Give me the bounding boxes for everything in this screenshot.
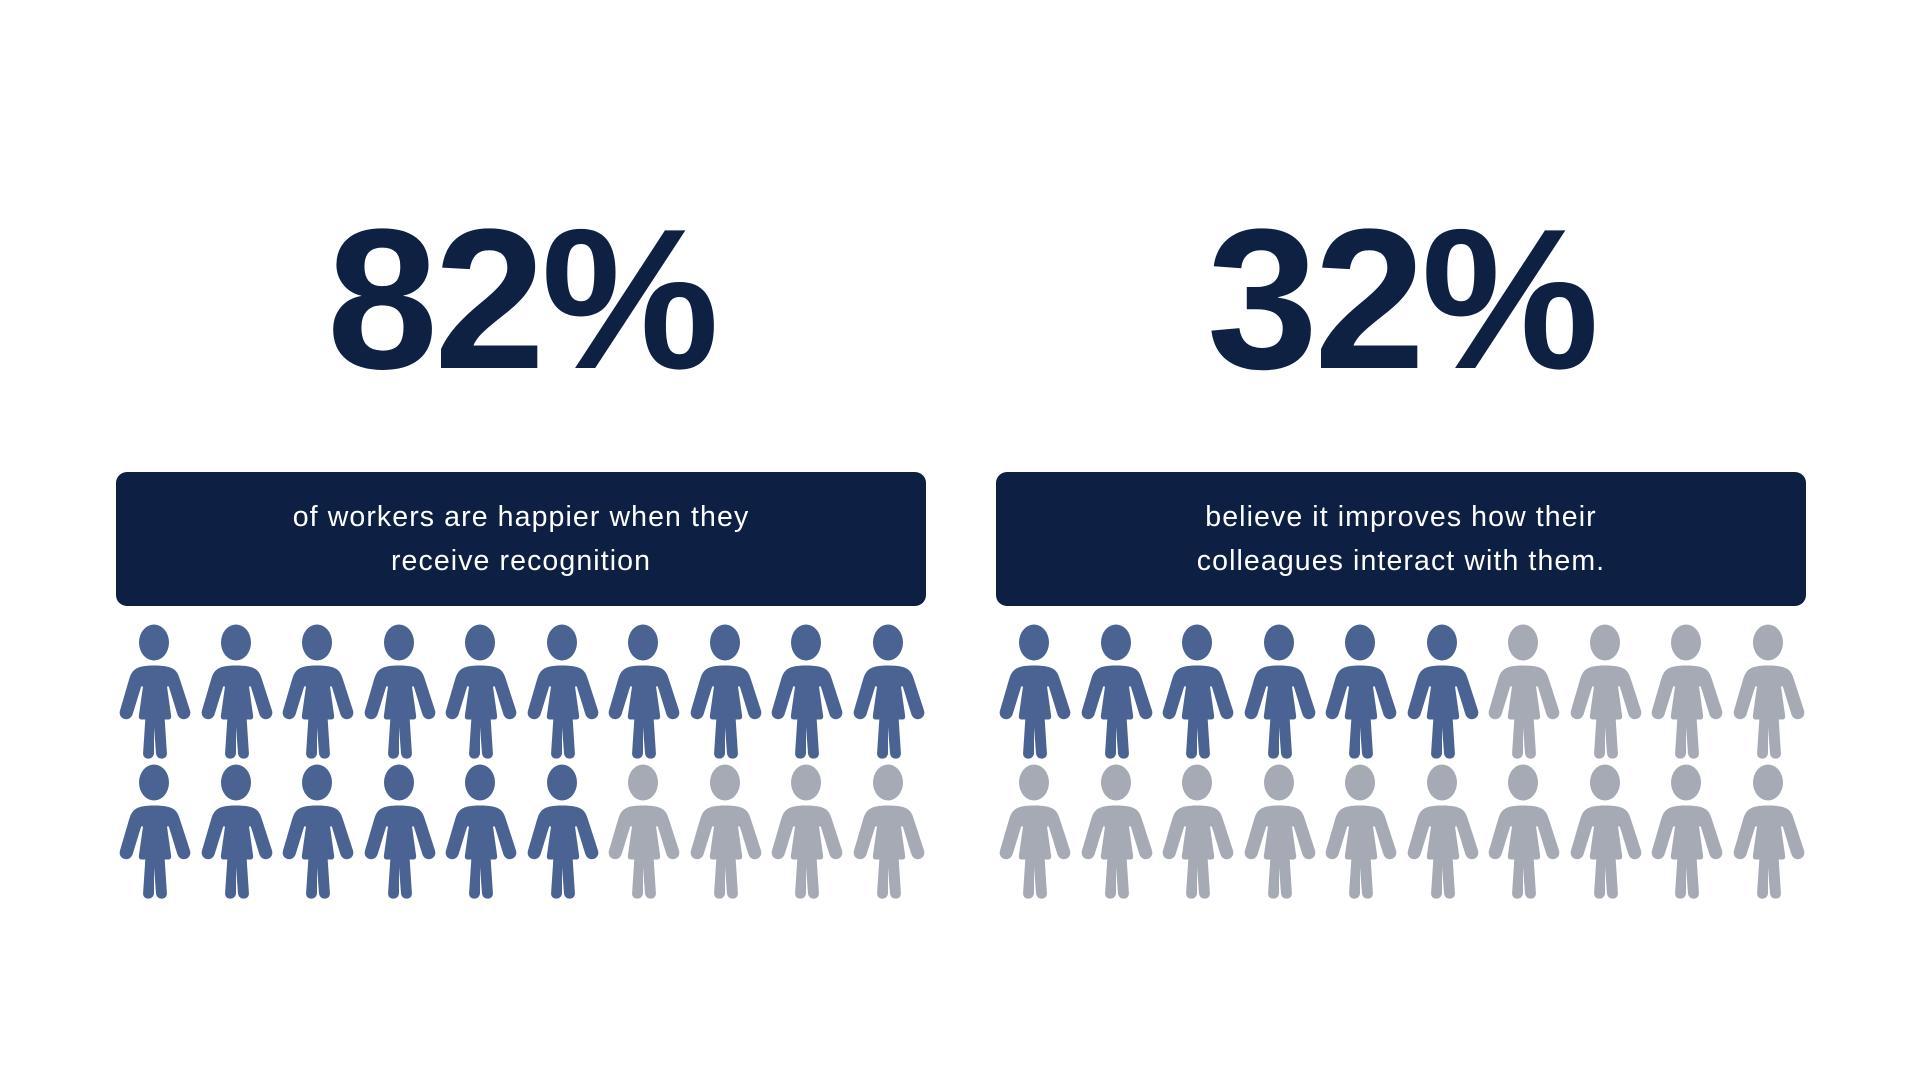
person-icon bbox=[1730, 762, 1806, 902]
stat-panel-workers-happier: 82% of workers are happier when they rec… bbox=[116, 200, 926, 902]
pictogram-row bbox=[116, 622, 926, 762]
person-icon bbox=[361, 762, 437, 902]
stat-panel-colleague-interaction: 32% believe it improves how their collea… bbox=[996, 200, 1806, 902]
person-icon bbox=[1241, 762, 1317, 902]
person-icon bbox=[1322, 622, 1398, 762]
person-icon bbox=[1648, 762, 1724, 902]
person-icon bbox=[198, 762, 274, 902]
person-icon bbox=[1322, 762, 1398, 902]
person-icon bbox=[524, 622, 600, 762]
caption-text-right: believe it improves how their colleagues… bbox=[1197, 495, 1605, 583]
person-icon bbox=[996, 622, 1072, 762]
person-icon bbox=[279, 622, 355, 762]
person-icon bbox=[850, 762, 926, 902]
person-icon bbox=[116, 622, 192, 762]
caption-box-right: believe it improves how their colleagues… bbox=[996, 472, 1806, 606]
pictogram-left bbox=[116, 622, 926, 902]
person-icon bbox=[687, 762, 763, 902]
person-icon bbox=[1730, 622, 1806, 762]
person-icon bbox=[687, 622, 763, 762]
person-icon bbox=[442, 622, 518, 762]
person-icon bbox=[768, 622, 844, 762]
person-icon bbox=[1078, 762, 1154, 902]
person-icon bbox=[1485, 762, 1561, 902]
person-icon bbox=[279, 762, 355, 902]
stat-panels: 82% of workers are happier when they rec… bbox=[0, 0, 1920, 1080]
person-icon bbox=[605, 762, 681, 902]
person-icon bbox=[1567, 622, 1643, 762]
caption-box-left: of workers are happier when they receive… bbox=[116, 472, 926, 606]
caption-text-left: of workers are happier when they receive… bbox=[293, 495, 750, 583]
person-icon bbox=[1485, 622, 1561, 762]
pictogram-right bbox=[996, 622, 1806, 902]
person-icon bbox=[1404, 762, 1480, 902]
person-icon bbox=[1159, 622, 1235, 762]
stat-percentage-left: 82% bbox=[116, 200, 926, 400]
person-icon bbox=[850, 622, 926, 762]
person-icon bbox=[1078, 622, 1154, 762]
person-icon bbox=[116, 762, 192, 902]
person-icon bbox=[198, 622, 274, 762]
person-icon bbox=[1404, 622, 1480, 762]
pictogram-row bbox=[996, 762, 1806, 902]
person-icon bbox=[1241, 622, 1317, 762]
person-icon bbox=[361, 622, 437, 762]
pictogram-row bbox=[996, 622, 1806, 762]
person-icon bbox=[524, 762, 600, 902]
person-icon bbox=[442, 762, 518, 902]
person-icon bbox=[1648, 622, 1724, 762]
infographic-canvas: 82% of workers are happier when they rec… bbox=[0, 0, 1920, 1080]
person-icon bbox=[768, 762, 844, 902]
pictogram-row bbox=[116, 762, 926, 902]
person-icon bbox=[996, 762, 1072, 902]
person-icon bbox=[1159, 762, 1235, 902]
person-icon bbox=[605, 622, 681, 762]
stat-percentage-right: 32% bbox=[996, 200, 1806, 400]
person-icon bbox=[1567, 762, 1643, 902]
